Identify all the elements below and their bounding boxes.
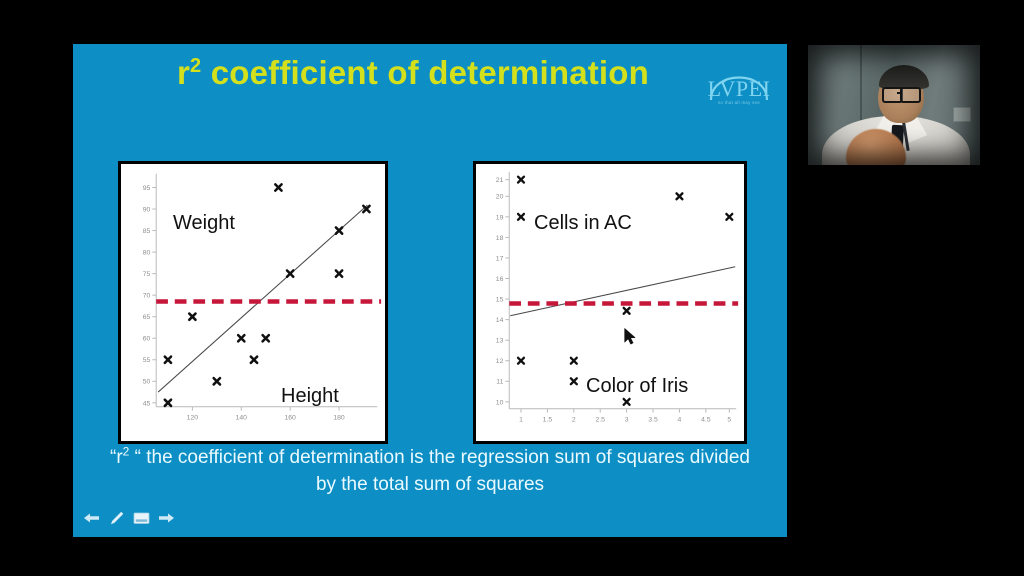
svg-text:so that all may see: so that all may see: [718, 100, 761, 105]
caption-part-1: “r: [110, 447, 123, 468]
svg-text:16: 16: [496, 276, 504, 283]
page-title: r2 coefficient of determination: [113, 52, 713, 93]
svg-text:18: 18: [496, 235, 504, 242]
title-text-rest: coefficient of determination: [201, 54, 649, 91]
svg-text:95: 95: [143, 185, 151, 192]
svg-text:55: 55: [143, 357, 151, 364]
scatter-chart-weight-height: 4550 5560 6570 7580 8590 95 120140: [118, 161, 388, 444]
svg-text:19: 19: [496, 214, 504, 221]
video-vignette: [808, 45, 980, 165]
svg-text:1.5: 1.5: [543, 416, 553, 423]
right-chart-xlabel: Color of Iris: [586, 375, 688, 398]
next-slide-arrow-icon[interactable]: [156, 509, 176, 527]
title-superscript: 2: [190, 55, 201, 77]
svg-text:15: 15: [496, 297, 504, 304]
svg-text:14: 14: [496, 317, 504, 324]
svg-text:90: 90: [143, 206, 151, 213]
svg-text:75: 75: [143, 271, 151, 278]
svg-text:17: 17: [496, 255, 504, 262]
svg-text:85: 85: [143, 228, 151, 235]
slide-caption: “r2 “ the coefficient of determination i…: [103, 444, 757, 498]
presentation-slide: r2 coefficient of determination LVPEI so…: [73, 44, 787, 537]
left-plot-area: 4550 5560 6570 7580 8590 95 120140: [121, 164, 385, 441]
presenter-video-feed[interactable]: [808, 45, 980, 165]
svg-text:21: 21: [496, 177, 504, 184]
svg-text:180: 180: [333, 414, 345, 421]
svg-text:60: 60: [143, 336, 151, 343]
svg-text:2: 2: [572, 416, 576, 423]
previous-slide-arrow-icon[interactable]: [81, 509, 101, 527]
svg-text:4: 4: [678, 416, 682, 423]
svg-text:70: 70: [143, 293, 151, 300]
video-frame: [808, 45, 980, 165]
slideshow-navigation-bar[interactable]: [81, 507, 176, 529]
pen-annotation-icon[interactable]: [106, 509, 126, 527]
left-chart-xlabel: Height: [281, 385, 339, 408]
svg-text:160: 160: [284, 414, 296, 421]
svg-text:45: 45: [143, 400, 151, 407]
caption-part-2: “ the coefficient of determination is th…: [129, 447, 750, 495]
svg-text:20: 20: [496, 194, 504, 201]
svg-text:4.5: 4.5: [701, 416, 711, 423]
svg-text:120: 120: [187, 414, 199, 421]
svg-text:65: 65: [143, 314, 151, 321]
screen: r2 coefficient of determination LVPEI so…: [0, 0, 1024, 576]
svg-text:LVPEI: LVPEI: [708, 76, 771, 101]
svg-text:3: 3: [625, 416, 629, 423]
svg-text:13: 13: [496, 338, 504, 345]
slide-menu-icon[interactable]: [131, 509, 151, 527]
svg-text:140: 140: [236, 414, 248, 421]
right-plot-area: 1011 1213 1415 1617 1819 2021: [476, 164, 744, 441]
svg-text:3.5: 3.5: [648, 416, 658, 423]
svg-text:1: 1: [519, 416, 523, 423]
left-chart-ylabel: Weight: [173, 212, 235, 235]
svg-text:11: 11: [496, 379, 503, 386]
svg-text:50: 50: [143, 379, 151, 386]
scatter-chart-cells-iris: 1011 1213 1415 1617 1819 2021: [473, 161, 747, 444]
title-text-prefix: r: [177, 54, 190, 91]
svg-text:80: 80: [143, 250, 151, 257]
svg-text:2.5: 2.5: [595, 416, 605, 423]
svg-text:10: 10: [496, 399, 504, 406]
right-chart-ylabel: Cells in AC: [534, 212, 632, 235]
svg-text:12: 12: [496, 358, 504, 365]
lvpei-logo: LVPEI so that all may see: [703, 56, 775, 108]
svg-text:5: 5: [727, 416, 731, 423]
